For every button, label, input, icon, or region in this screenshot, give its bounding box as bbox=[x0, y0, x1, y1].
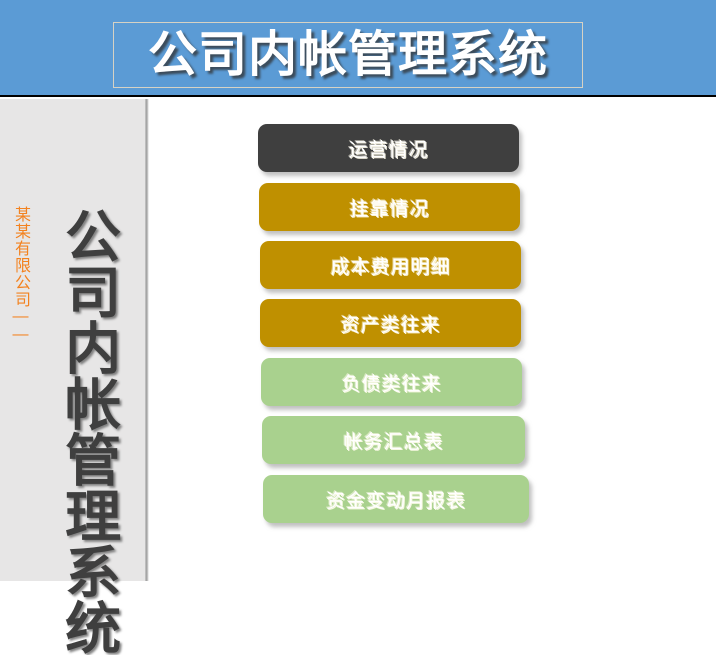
menu-button-label: 资金变动月报表 bbox=[326, 486, 466, 513]
menu-button-label: 负债类往来 bbox=[341, 369, 441, 396]
menu-button-2[interactable]: 挂靠情况 bbox=[259, 183, 520, 231]
menu-button-label: 成本费用明细 bbox=[330, 252, 450, 279]
menu-button-1[interactable]: 运营情况 bbox=[258, 124, 519, 172]
menu-button-label: 挂靠情况 bbox=[349, 194, 429, 221]
menu-button-5[interactable]: 负债类往来 bbox=[261, 358, 522, 406]
main-content: 运营情况挂靠情况成本费用明细资产类往来负债类往来帐务汇总表资金变动月报表 bbox=[149, 99, 716, 581]
menu-button-3[interactable]: 成本费用明细 bbox=[260, 241, 521, 289]
menu-button-6[interactable]: 帐务汇总表 bbox=[262, 416, 525, 464]
menu-button-label: 运营情况 bbox=[348, 135, 428, 162]
menu-button-label: 资产类往来 bbox=[340, 310, 440, 337]
sidebar-company-label: 某某有限公司—— bbox=[12, 206, 28, 344]
sidebar: 某某有限公司—— 公司内帐管理系统 bbox=[0, 99, 145, 581]
menu-button-4[interactable]: 资产类往来 bbox=[260, 299, 521, 347]
page-title-box: 公司内帐管理系统 bbox=[113, 22, 583, 88]
sidebar-system-label: 公司内帐管理系统 bbox=[60, 207, 118, 655]
header-banner: 公司内帐管理系统 bbox=[0, 0, 716, 97]
menu-button-label: 帐务汇总表 bbox=[343, 427, 443, 454]
page-title: 公司内帐管理系统 bbox=[114, 23, 582, 87]
menu-button-7[interactable]: 资金变动月报表 bbox=[263, 475, 529, 523]
